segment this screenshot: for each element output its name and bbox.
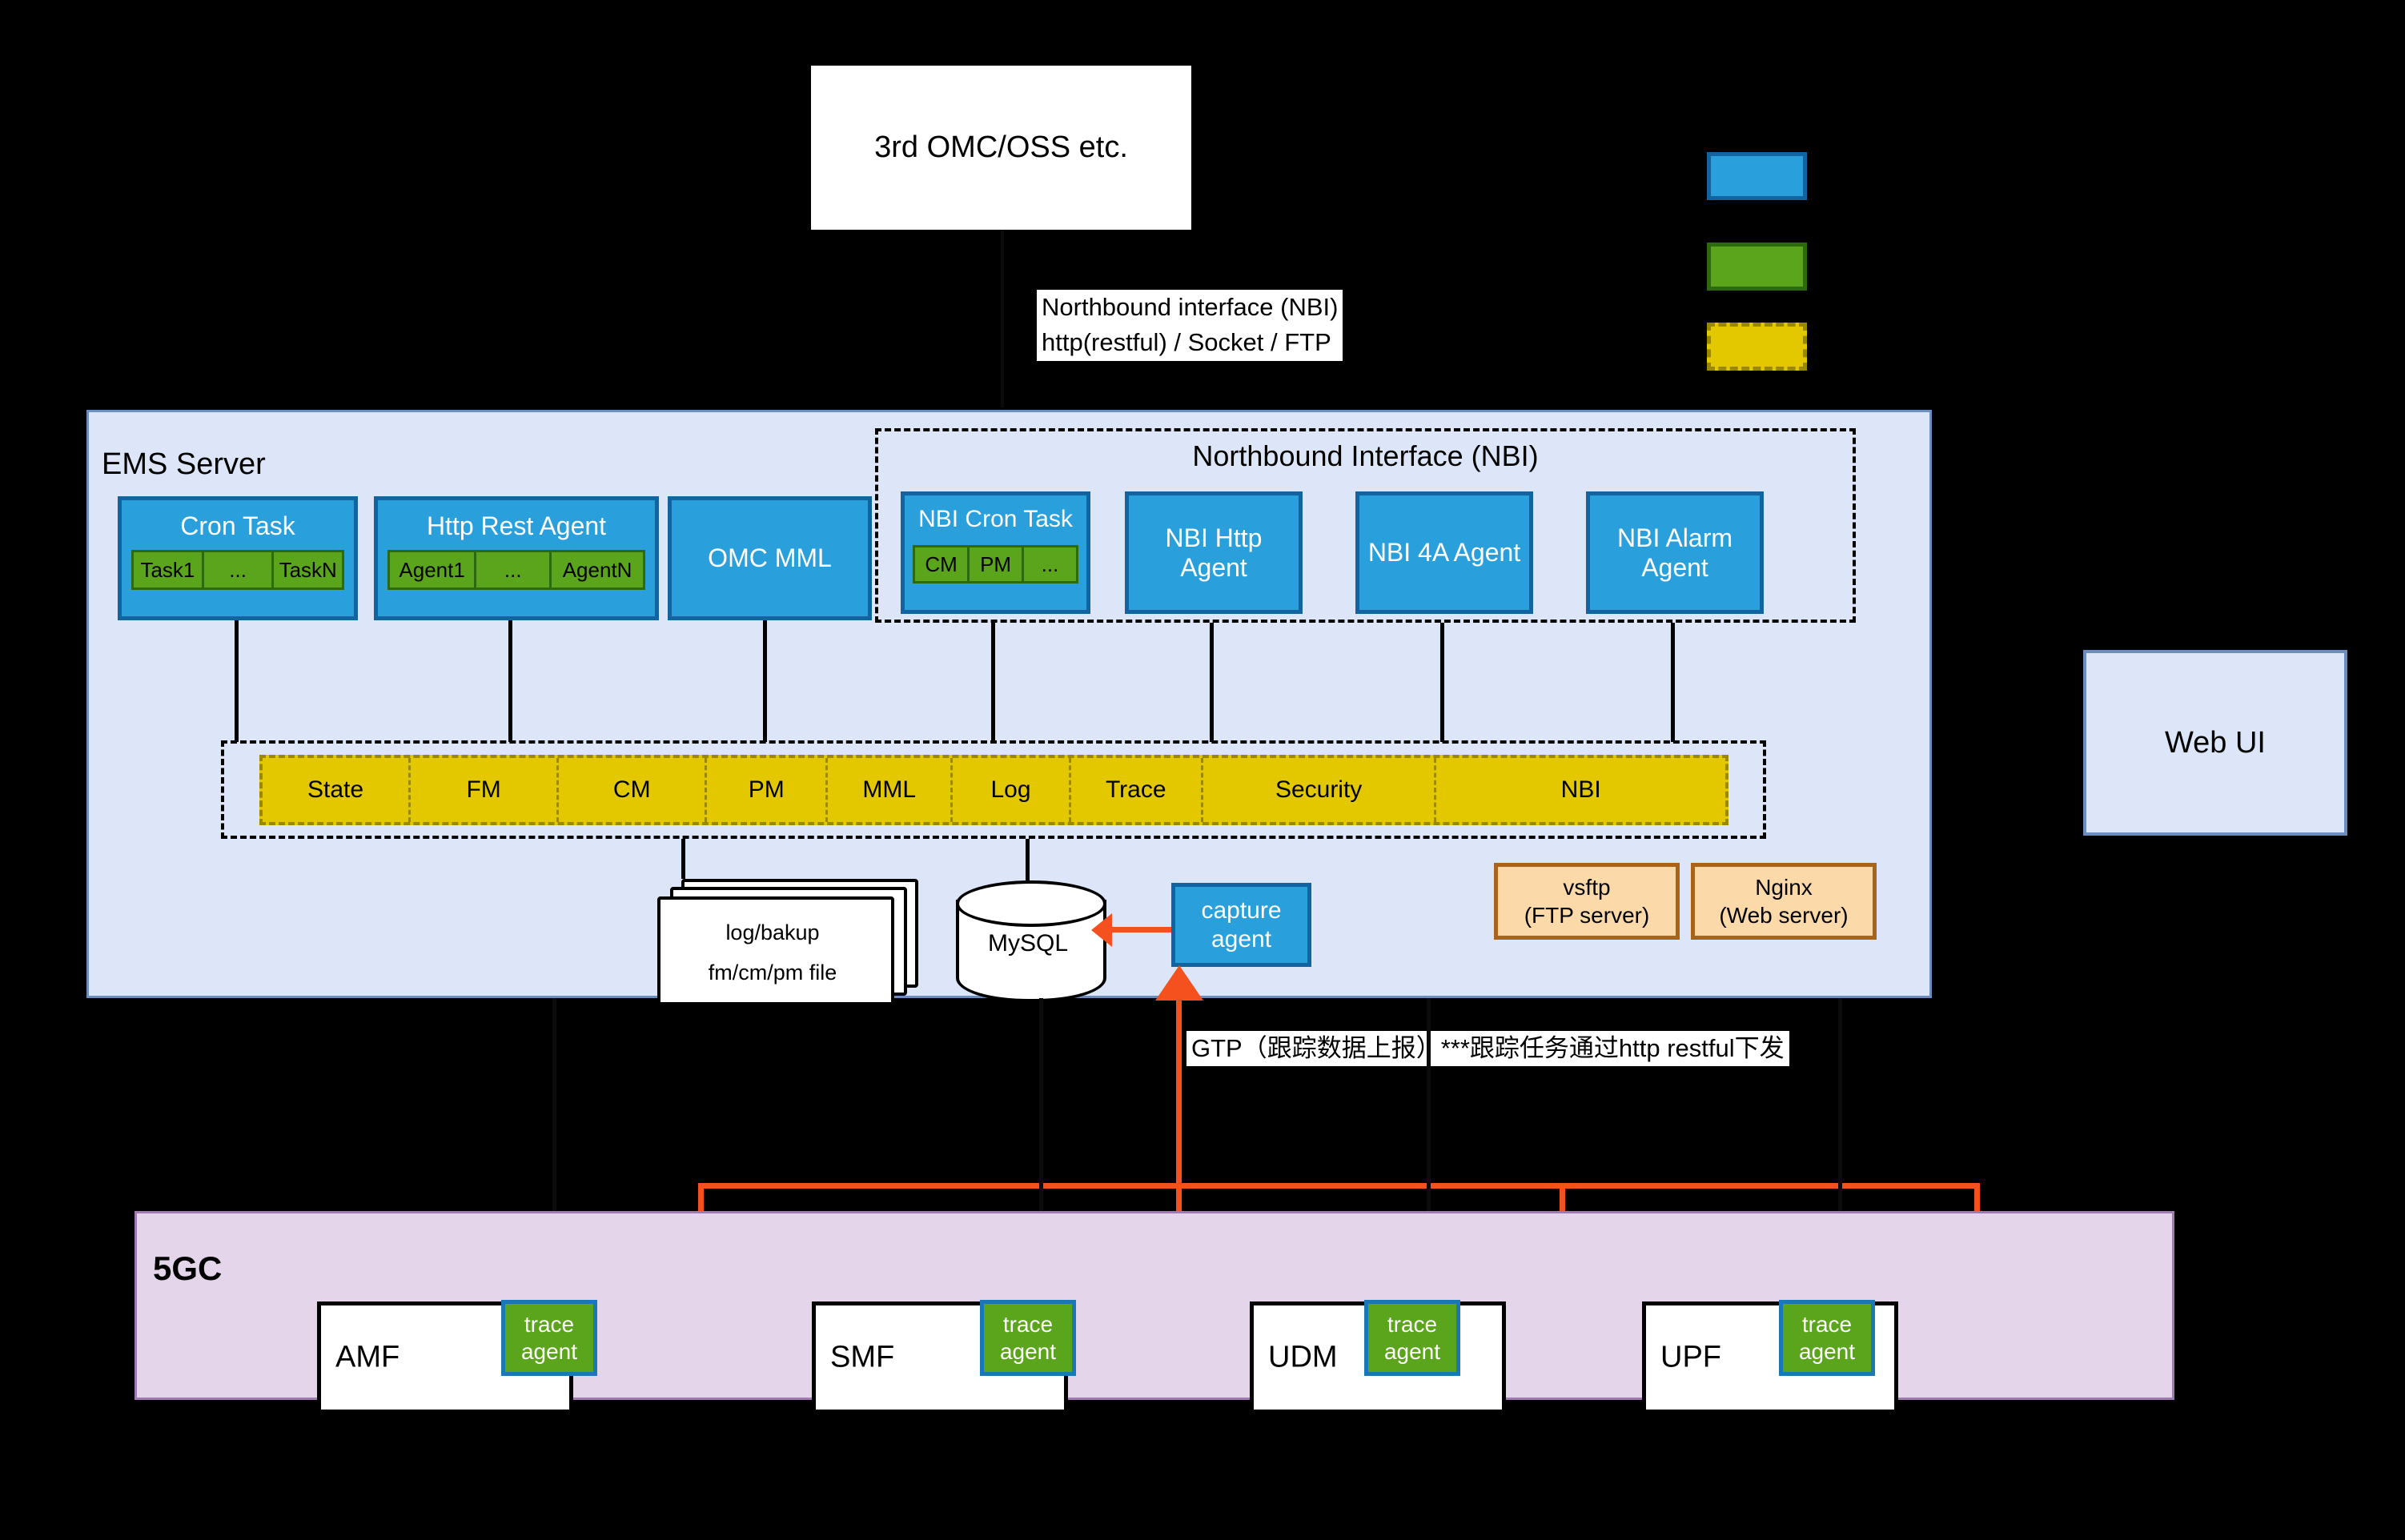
component-cron-task-label: Cron Task [122,508,354,543]
service-bus-cell-mml[interactable]: MML [828,758,953,822]
database-label: MySQL [956,930,1100,957]
capture-agent-box[interactable]: capture agent [1171,883,1311,967]
file-store-label-line1: log/bakup [657,920,888,945]
component-http-rest-agent-label: Http Rest Agent [378,508,655,543]
server-nginx-name: Nginx [1755,873,1813,901]
component-nbi-http-agent[interactable]: NBI Http Agent [1125,491,1303,614]
server-vsftp[interactable]: vsftp (FTP server) [1494,863,1680,940]
nbi-cron-task-sub-2: ... [1024,547,1076,581]
connector-nbi-http-agent-to-bus [1210,623,1214,742]
file-store-label-line2: fm/cm/pm file [657,960,888,985]
trace-agent-amf[interactable]: trace agent [501,1300,597,1376]
cron-task-sub-2: TaskN [274,552,342,588]
third-party-omc-oss-label: 3rd OMC/OSS etc. [874,130,1128,165]
ems-server-title: EMS Server [102,447,266,482]
service-bus-frame: State FM CM PM MML Log Trace Security NB… [221,740,1766,839]
web-ui-label: Web UI [2165,726,2266,760]
component-nbi-alarm-agent[interactable]: NBI Alarm Agent [1586,491,1764,614]
component-nbi-alarm-agent-label: NBI Alarm Agent [1590,523,1760,583]
ems-server-panel: EMS Server Cron Task Task1 ... TaskN Htt… [86,410,1932,998]
nbi-protocol-note-line1: Northbound interface (NBI) [1037,290,1343,325]
trace-agent-udm-label: trace agent [1368,1311,1456,1365]
nf-udm-label: UDM [1268,1341,1338,1375]
file-store-stack: log/bakup fm/cm/pm file [657,879,913,1001]
gtp-annotation: GTP（跟踪数据上报）***跟踪任务通过http restful下发 [1186,1031,1789,1066]
service-bus-cell-log[interactable]: Log [953,758,1070,822]
nf-smf-label: SMF [830,1341,894,1375]
legend-blue-swatch [1707,152,1807,200]
service-bus: State FM CM PM MML Log Trace Security NB… [259,755,1728,825]
arrow-capture-agent-to-database-head [1091,913,1112,947]
service-bus-cell-fm[interactable]: FM [411,758,559,822]
trace-agent-amf-label: trace agent [505,1311,593,1365]
component-nbi-http-agent-label: NBI Http Agent [1129,523,1299,583]
server-nginx-role: (Web server) [1719,901,1848,929]
http-rest-agent-sub-2: AgentN [552,552,643,588]
connector-nbi-alarm-agent-to-bus [1671,623,1675,742]
service-bus-cell-security[interactable]: Security [1203,758,1436,822]
nf-upf-label: UPF [1660,1341,1721,1375]
component-http-rest-agent[interactable]: Http Rest Agent Agent1 ... AgentN [374,496,659,620]
nbi-protocol-note-line2: http(restful) / Socket / FTP [1037,325,1343,360]
server-vsftp-role: (FTP server) [1524,901,1650,929]
nf-amf-label: AMF [335,1341,399,1375]
connector-omc-mml-to-bus [763,620,767,742]
cron-task-sub-0: Task1 [134,552,204,588]
nbi-protocol-note: Northbound interface (NBI) http(restful)… [1037,290,1343,361]
service-bus-cell-trace[interactable]: Trace [1071,758,1203,822]
connector-nbi-to-third-party [1001,230,1004,407]
component-cron-task[interactable]: Cron Task Task1 ... TaskN [118,496,358,620]
nbi-group: Northbound Interface (NBI) NBI Cron Task… [875,428,1856,623]
connector-nbi-4a-agent-to-bus [1440,623,1444,742]
trace-agent-upf-label: trace agent [1783,1311,1871,1365]
legend-green-swatch [1707,243,1807,291]
nbi-group-title: Northbound Interface (NBI) [878,439,1853,473]
core-network-title: 5GC [153,1249,222,1288]
component-omc-mml[interactable]: OMC MML [668,496,872,620]
server-vsftp-name: vsftp [1563,873,1610,901]
trace-agent-upf[interactable]: trace agent [1779,1300,1875,1376]
nbi-cron-task-subtasks: CM PM ... [913,545,1078,584]
component-nbi-4a-agent-label: NBI 4A Agent [1363,538,1525,567]
component-nbi-cron-task[interactable]: NBI Cron Task CM PM ... [901,491,1090,614]
connector-bus-to-database [1026,839,1030,880]
component-nbi-cron-task-label: NBI Cron Task [905,502,1086,537]
service-bus-cell-cm[interactable]: CM [559,758,707,822]
connector-nbi-cron-task-to-bus [991,623,995,742]
third-party-omc-oss-box: 3rd OMC/OSS etc. [811,66,1191,230]
http-rest-agent-subagents: Agent1 ... AgentN [387,550,645,590]
server-nginx[interactable]: Nginx (Web server) [1691,863,1877,940]
core-network-panel: 5GC AMF trace agent SMF trace agent UDM … [135,1211,2174,1400]
component-nbi-4a-agent[interactable]: NBI 4A Agent [1355,491,1533,614]
orange-distribution-bus [698,1183,1979,1189]
file-store-sheet-front [657,896,894,1005]
cron-task-sub-1: ... [204,552,275,588]
service-bus-cell-nbi[interactable]: NBI [1436,758,1725,822]
arrow-capture-agent-to-database-shaft [1107,927,1171,932]
connector-http-rest-agent-to-bus [508,620,512,742]
database-cylinder-top [956,880,1106,927]
trace-agent-smf-label: trace agent [984,1311,1072,1365]
trace-agent-udm[interactable]: trace agent [1364,1300,1460,1376]
http-rest-agent-sub-0: Agent1 [390,552,476,588]
capture-agent-label: capture agent [1175,896,1307,954]
database-cylinder: MySQL [956,880,1100,1002]
legend-yellow-swatch [1707,323,1807,371]
orange-trunk-vertical [1176,998,1182,1188]
nbi-cron-task-sub-1: PM [970,547,1024,581]
http-rest-agent-sub-1: ... [476,552,552,588]
web-ui-box[interactable]: Web UI [2083,650,2347,836]
nbi-cron-task-sub-0: CM [915,547,970,581]
connector-cron-task-to-bus [235,620,239,742]
architecture-diagram: 3rd OMC/OSS etc. Northbound interface (N… [0,0,2405,1540]
connector-bus-to-file-store [681,839,685,879]
trace-agent-smf[interactable]: trace agent [980,1300,1076,1376]
service-bus-cell-pm[interactable]: PM [707,758,828,822]
service-bus-cell-state[interactable]: State [263,758,411,822]
cron-task-subtasks: Task1 ... TaskN [131,550,344,590]
component-omc-mml-label: OMC MML [703,543,837,573]
orange-trunk-arrowhead [1155,965,1203,1001]
